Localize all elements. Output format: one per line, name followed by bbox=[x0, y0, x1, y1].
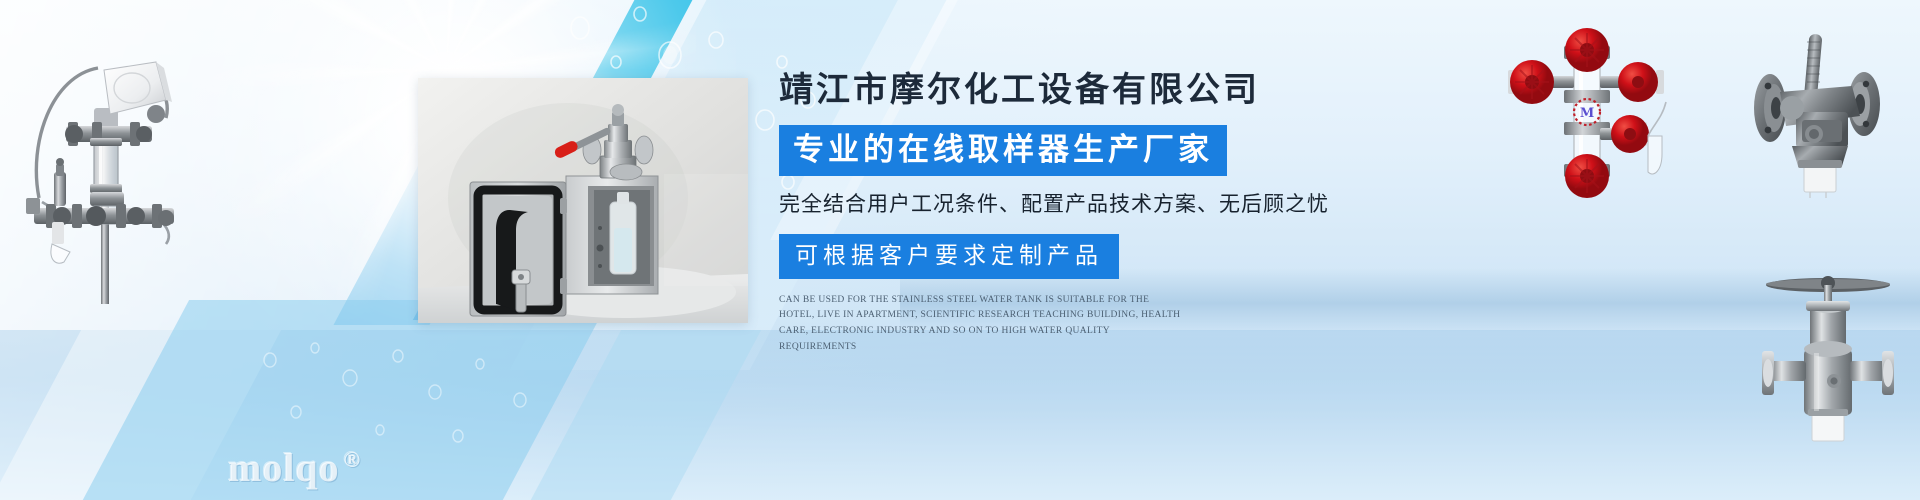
right-equipment-four-valve-image: M bbox=[1498, 28, 1676, 198]
left-equipment-image bbox=[6, 22, 206, 304]
company-name: 靖江市摩尔化工设备有限公司 bbox=[779, 72, 1399, 109]
subline-text: 完全结合用户工况条件、配置产品技术方案、无后顾之忧 bbox=[779, 192, 1399, 218]
watermark-text: molqo bbox=[228, 445, 340, 490]
right-equipment-lever-valve-image bbox=[1740, 30, 1896, 200]
headline-secondary-badge: 可根据客户要求定制产品 bbox=[779, 234, 1119, 279]
english-description: CAN BE USED FOR THE STAINLESS STEEL WATE… bbox=[779, 293, 1181, 356]
right-equipment-handwheel-valve-image bbox=[1742, 255, 1912, 450]
banner-copy-block: 靖江市摩尔化工设备有限公司 专业的在线取样器生产厂家 完全结合用户工况条件、配置… bbox=[779, 72, 1399, 355]
center-product-photo bbox=[418, 78, 748, 323]
registered-trademark-icon: ® bbox=[344, 447, 361, 472]
headline-primary-badge: 专业的在线取样器生产厂家 bbox=[779, 125, 1227, 176]
watermark-logo: molqo® bbox=[228, 448, 361, 488]
floor-ribbon-right bbox=[499, 330, 761, 500]
svg-text:M: M bbox=[1580, 106, 1594, 121]
promo-banner: M bbox=[0, 0, 1920, 500]
